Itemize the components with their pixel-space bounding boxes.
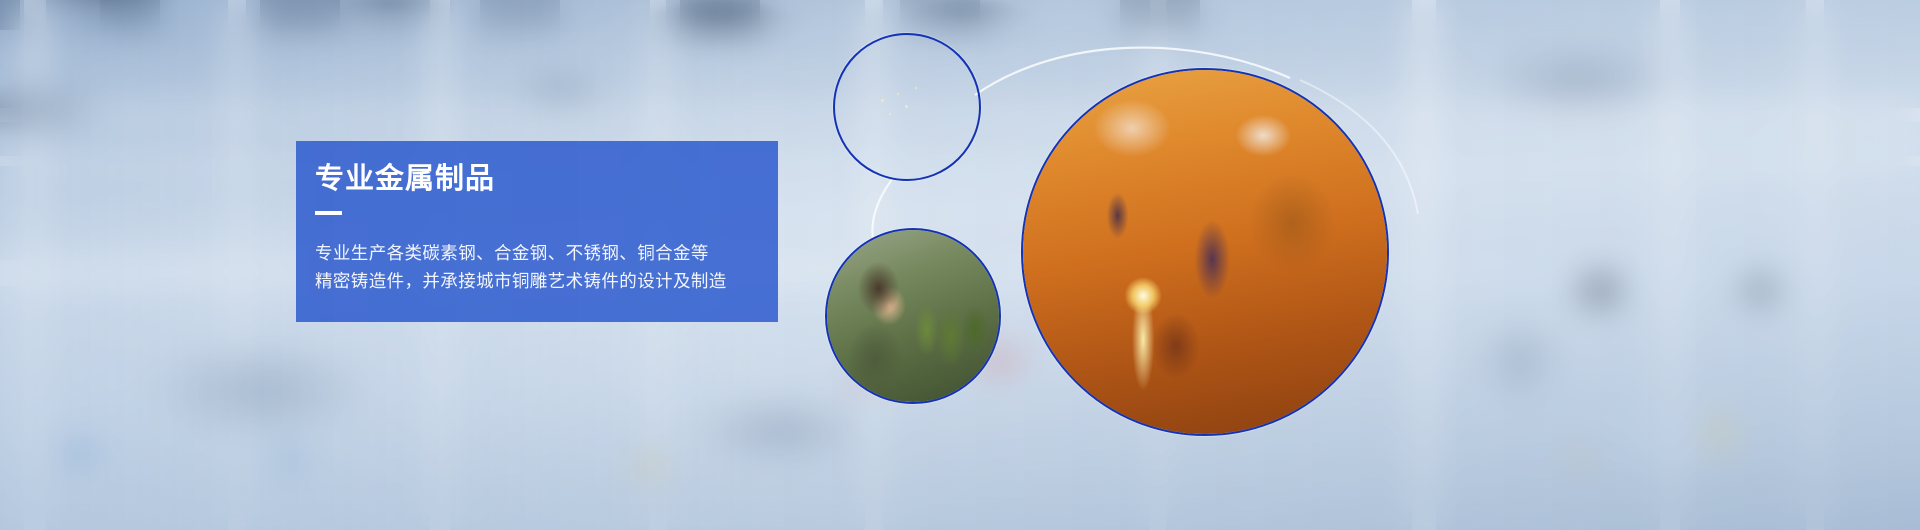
panel-description-line-2: 精密铸造件，并承接城市铜雕艺术铸件的设计及制造 bbox=[315, 267, 768, 295]
panel-description-line-1: 专业生产各类碳素钢、合金钢、不锈钢、铜合金等 bbox=[315, 239, 768, 267]
page-title: 专业金属制品 bbox=[315, 155, 495, 197]
spark-dot bbox=[915, 87, 917, 89]
panel-description: 专业生产各类碳素钢、合金钢、不锈钢、铜合金等 精密铸造件，并承接城市铜雕艺术铸件… bbox=[315, 239, 768, 295]
worker-photo-image bbox=[827, 230, 999, 402]
spark-dot bbox=[905, 105, 908, 108]
foundry-photo-image bbox=[1023, 70, 1387, 434]
welding-photo bbox=[833, 33, 981, 181]
spark-dot bbox=[889, 113, 891, 115]
worker-photo bbox=[825, 228, 1001, 404]
spark-dot bbox=[881, 99, 884, 102]
foundry-photo bbox=[1021, 68, 1389, 436]
hero-banner: 专业金属制品 专业生产各类碳素钢、合金钢、不锈钢、铜合金等 精密铸造件，并承接城… bbox=[0, 0, 1920, 530]
spark-dot bbox=[897, 93, 899, 95]
title-divider bbox=[315, 211, 342, 215]
headline-panel: 专业金属制品 专业生产各类碳素钢、合金钢、不锈钢、铜合金等 精密铸造件，并承接城… bbox=[296, 141, 778, 322]
